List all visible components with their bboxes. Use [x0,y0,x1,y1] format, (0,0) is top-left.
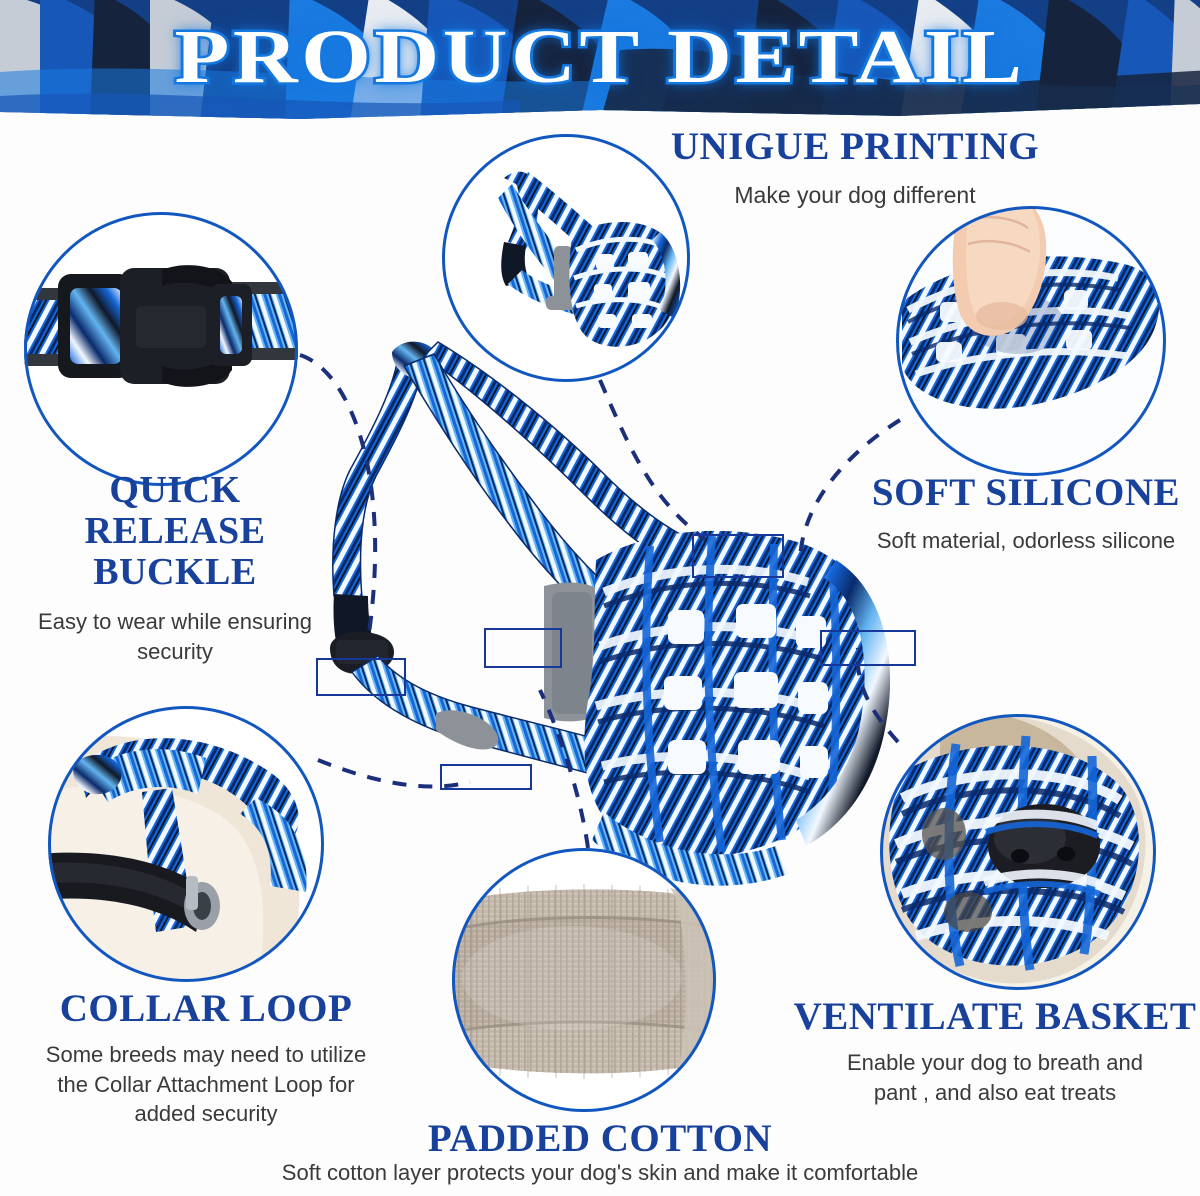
feature-title-unique-printing: UNIGUE PRINTING [640,126,1070,168]
callout-padded-cotton [484,628,562,668]
feature-title-padded-cotton: PADDED COTTON [300,1118,900,1160]
feature-subtitle-ventilate-basket-line2: pant , and also eat treats [790,1078,1200,1107]
feature-subtitle-collar-loop-line1: Some breeds may need to utilize [6,1040,406,1069]
feature-title-soft-silicone: SOFT SILICONE [852,472,1200,514]
photo-quick-release-buckle [24,212,298,486]
feature-subtitle-unique-printing: Make your dog different [640,180,1070,211]
feature-text-soft-silicone: SOFT SILICONE Soft material, odorless si… [852,472,1200,556]
feature-title-collar-loop: COLLAR LOOP [6,988,406,1030]
feature-text-unique-printing: UNIGUE PRINTING Make your dog different [640,126,1070,211]
photo-soft-silicone [896,206,1166,476]
feature-text-padded-cotton: PADDED COTTON [300,1118,900,1160]
feature-title-quick-release-buckle-line1: QUICK [0,470,350,511]
feature-subtitle-block-padded-cotton: Soft cotton layer protects your dog's sk… [150,1158,1050,1187]
feature-subtitle-padded-cotton: Soft cotton layer protects your dog's sk… [150,1158,1050,1187]
callout-collar-loop [440,764,532,790]
photo-padded-cotton [452,848,716,1112]
callout-ventilate-basket [820,630,916,666]
product-detail-infographic: PRODUCT DETAIL [0,0,1200,1196]
photo-ventilate-basket [880,714,1156,990]
banner-camo-pattern [0,0,1200,122]
connector-unique-printing [600,380,706,540]
feature-text-collar-loop: COLLAR LOOP Some breeds may need to util… [6,988,406,1129]
feature-title-ventilate-basket: VENTILATE BASKET [790,996,1200,1038]
feature-subtitle-quick-release-buckle-line2: security [0,637,350,666]
feature-subtitle-collar-loop-line2: the Collar Attachment Loop for [6,1070,406,1099]
feature-subtitle-quick-release-buckle-line1: Easy to wear while ensuring [0,607,350,636]
feature-title-quick-release-buckle-line2: RELEASE BUCKLE [0,511,350,593]
feature-subtitle-ventilate-basket-line1: Enable your dog to breath and [790,1048,1200,1077]
feature-text-ventilate-basket: VENTILATE BASKET Enable your dog to brea… [790,996,1200,1107]
feature-text-quick-release-buckle: QUICK RELEASE BUCKLE Easy to wear while … [0,470,350,666]
callout-silicone-basket [692,534,784,578]
photo-collar-loop [48,706,324,982]
header-banner: PRODUCT DETAIL [0,0,1200,122]
connector-padded-cotton [540,690,588,848]
feature-subtitle-soft-silicone: Soft material, odorless silicone [852,526,1200,555]
